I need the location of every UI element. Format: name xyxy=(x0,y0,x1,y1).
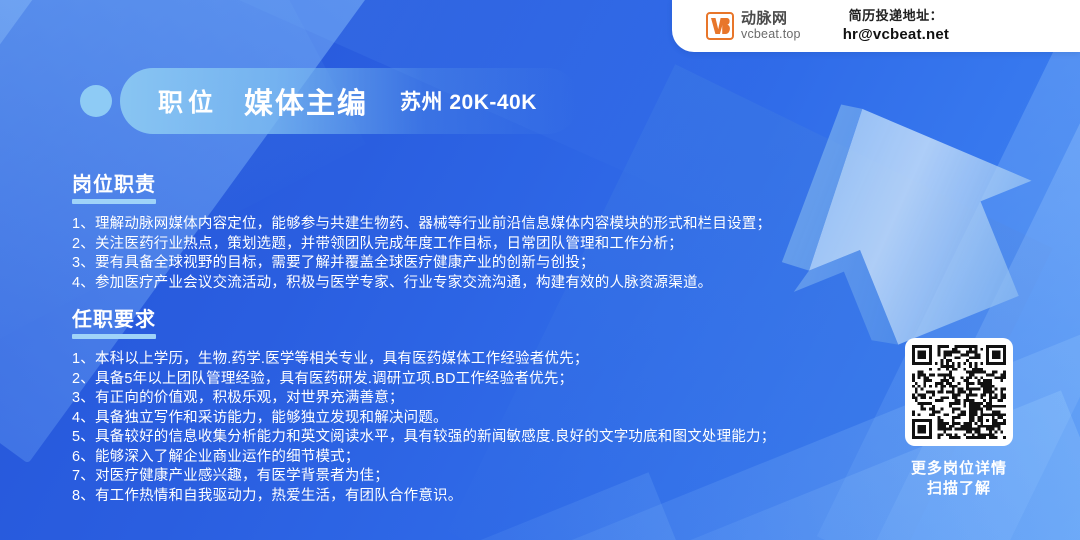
job-location-salary: 苏州 20K-40K xyxy=(400,86,537,116)
section-responsibilities: 岗位职责 1、理解动脉网媒体内容定位，能够参与共建生物药、器械等行业前沿信息媒体… xyxy=(72,168,771,293)
job-posting-poster: 动脉网 vcbeat.top 简历投递地址： hr@vcbeat.net 职位 … xyxy=(0,0,1080,540)
list-item: 2、关注医药行业热点，策划选题，并带领团队完成年度工作目标，日常团队管理和工作分… xyxy=(72,235,771,255)
resume-email[interactable]: hr@vcbeat.net xyxy=(843,26,949,45)
responsibilities-heading: 岗位职责 xyxy=(72,168,156,200)
list-item: 2、具备5年以上团队管理经验，具有医药研发.调研立项.BD工作经验者优先； xyxy=(72,370,775,390)
section-requirements: 任职要求 1、本科以上学历，生物.药学.医学等相关专业，具有医药媒体工作经验者优… xyxy=(72,303,775,506)
job-label: 职位 xyxy=(158,83,218,119)
requirements-list: 1、本科以上学历，生物.药学.医学等相关专业，具有医药媒体工作经验者优先； 2、… xyxy=(72,350,775,506)
list-item: 4、具备独立写作和采访能力，能够独立发现和解决问题。 xyxy=(72,409,775,429)
requirements-heading: 任职要求 xyxy=(72,303,156,335)
header-card: 动脉网 vcbeat.top 简历投递地址： hr@vcbeat.net xyxy=(672,0,1080,52)
list-item: 6、能够深入了解企业商业运作的细节模式； xyxy=(72,448,775,468)
list-item: 8、有工作热情和自我驱动力，热爱生活，有团队合作意识。 xyxy=(72,487,775,507)
badge-dot-icon xyxy=(80,85,112,117)
list-item: 4、参加医疗产业会议交流活动，积极与医学专家、行业专家交流沟通，构建有效的人脉资… xyxy=(72,274,771,294)
responsibilities-list: 1、理解动脉网媒体内容定位，能够参与共建生物药、器械等行业前沿信息媒体内容模块的… xyxy=(72,215,771,293)
vb-logo-icon xyxy=(706,12,734,40)
qr-block: 更多岗位详情 扫描了解 xyxy=(905,338,1013,499)
list-item: 7、对医疗健康产业感兴趣，有医学背景者为佳； xyxy=(72,467,775,487)
resume-address-label: 简历投递地址： xyxy=(843,8,949,24)
logo-chinese-name: 动脉网 xyxy=(741,11,801,26)
brand-logo[interactable]: 动脉网 vcbeat.top xyxy=(706,11,801,41)
list-item: 3、要有具备全球视野的目标，需要了解并覆盖全球医疗健康产业的创新与创投； xyxy=(72,254,771,274)
logo-text: 动脉网 vcbeat.top xyxy=(741,11,801,41)
job-title-badge: 职位 媒体主编 苏州 20K-40K xyxy=(120,68,537,134)
qr-code-image[interactable] xyxy=(905,338,1013,446)
list-item: 1、本科以上学历，生物.药学.医学等相关专业，具有医药媒体工作经验者优先； xyxy=(72,350,775,370)
qr-caption-line1: 更多岗位详情 xyxy=(905,459,1013,479)
qr-caption: 更多岗位详情 扫描了解 xyxy=(905,459,1013,499)
qr-code-svg xyxy=(912,345,1006,439)
resume-contact-block: 简历投递地址： hr@vcbeat.net xyxy=(843,8,949,45)
job-title: 媒体主编 xyxy=(244,80,368,122)
arrow-3d-illustration xyxy=(758,82,1058,362)
logo-domain: vcbeat.top xyxy=(741,28,801,41)
list-item: 5、具备较好的信息收集分析能力和英文阅读水平，具有较强的新闻敏感度.良好的文字功… xyxy=(72,428,775,448)
list-item: 3、有正向的价值观，积极乐观，对世界充满善意； xyxy=(72,389,775,409)
qr-caption-line2: 扫描了解 xyxy=(905,479,1013,499)
list-item: 1、理解动脉网媒体内容定位，能够参与共建生物药、器械等行业前沿信息媒体内容模块的… xyxy=(72,215,771,235)
